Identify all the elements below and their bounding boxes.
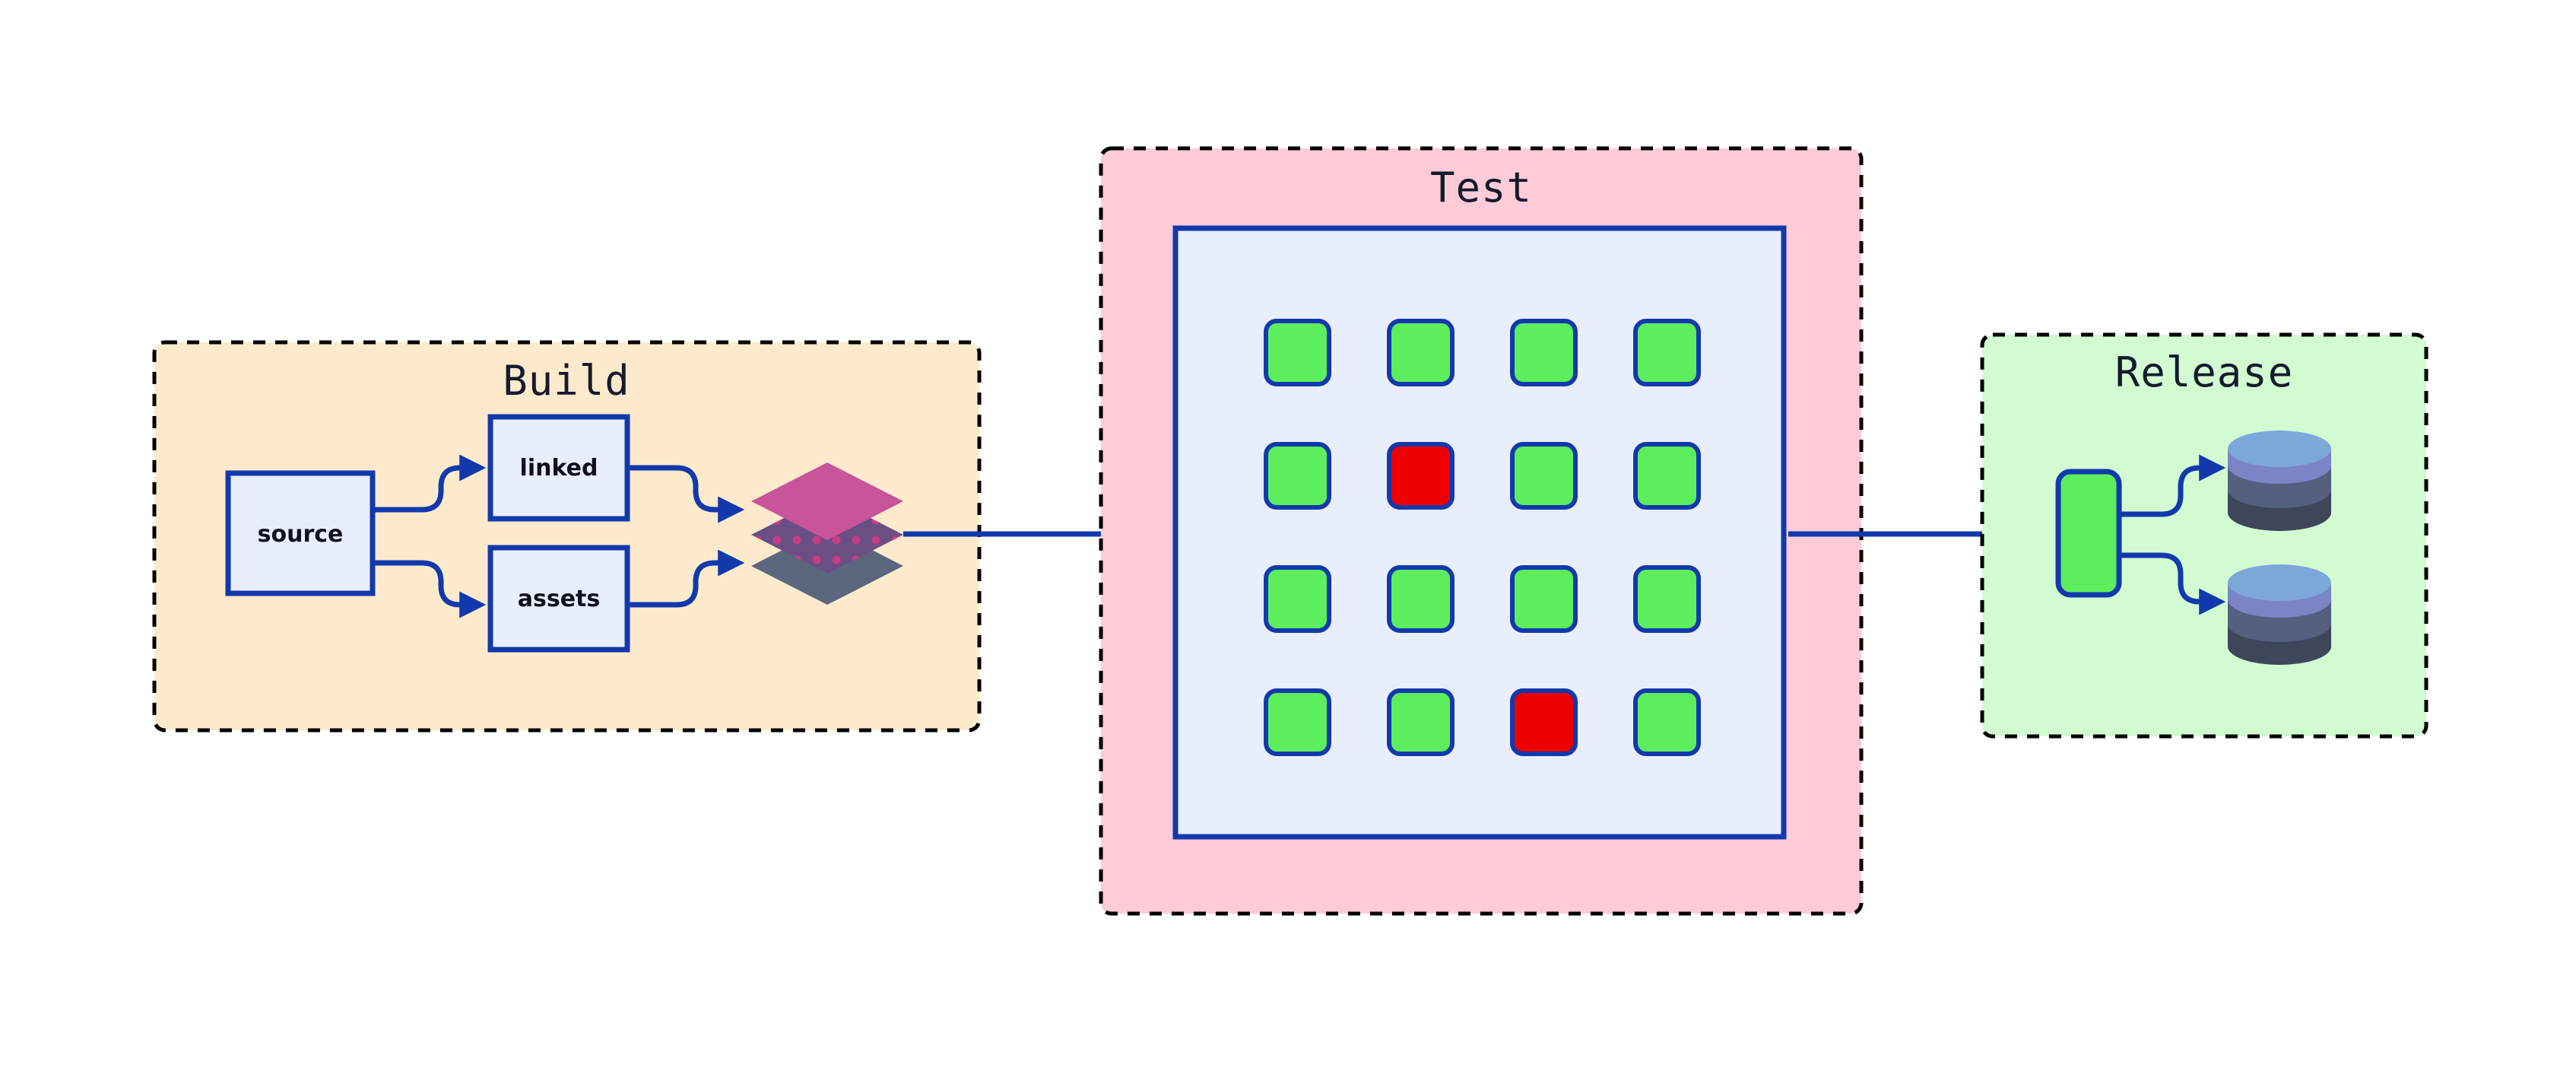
node-linked[interactable]: linked	[490, 417, 627, 519]
test-cell-failed[interactable]	[1389, 444, 1452, 507]
group-test-title: Test	[1430, 164, 1532, 211]
group-release-title: Release	[2115, 348, 2294, 396]
node-assets[interactable]: assets	[490, 548, 627, 650]
test-cell-failed[interactable]	[1512, 691, 1575, 754]
db-primary-top	[2228, 431, 2331, 467]
test-cell[interactable]	[1512, 567, 1575, 631]
test-cell[interactable]	[1266, 444, 1329, 507]
diagram-canvas: Build source linked assets	[0, 0, 2576, 1068]
node-linked-label: linked	[520, 455, 598, 482]
test-cell[interactable]	[1266, 691, 1329, 754]
pipeline-diagram: Build source linked assets	[0, 0, 2576, 1068]
test-cell[interactable]	[1389, 567, 1452, 631]
node-source[interactable]: source	[228, 473, 373, 593]
test-cell[interactable]	[1389, 321, 1452, 384]
group-build-title: Build	[503, 357, 630, 405]
test-cell[interactable]	[1512, 321, 1575, 384]
node-deploy[interactable]	[2058, 472, 2119, 595]
db-replica-top	[2228, 564, 2331, 601]
group-test: Test	[1101, 148, 1861, 914]
test-cell[interactable]	[1266, 321, 1329, 384]
group-build: Build source linked assets	[154, 342, 979, 730]
test-cell[interactable]	[1389, 691, 1452, 754]
test-cell[interactable]	[1635, 567, 1699, 631]
test-cell[interactable]	[1635, 444, 1699, 507]
test-cell[interactable]	[1512, 444, 1575, 507]
group-release: Release	[1982, 335, 2426, 736]
test-cell[interactable]	[1266, 567, 1329, 631]
node-assets-label: assets	[518, 586, 601, 612]
test-cell[interactable]	[1635, 321, 1699, 384]
test-cell[interactable]	[1635, 691, 1699, 754]
database-icon-replica	[2228, 564, 2331, 665]
database-icon-primary	[2228, 431, 2331, 531]
node-source-label: source	[258, 521, 344, 548]
